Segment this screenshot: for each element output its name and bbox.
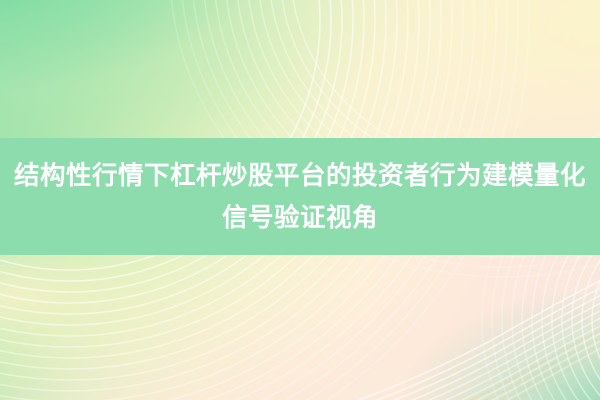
title-line-2: 信号验证视角	[222, 197, 378, 239]
title-line-1: 结构性行情下杠杆炒股平台的投资者行为建模量化	[14, 155, 586, 197]
banner-image: 结构性行情下杠杆炒股平台的投资者行为建模量化 信号验证视角	[0, 0, 600, 400]
title-block: 结构性行情下杠杆炒股平台的投资者行为建模量化 信号验证视角	[0, 138, 600, 255]
